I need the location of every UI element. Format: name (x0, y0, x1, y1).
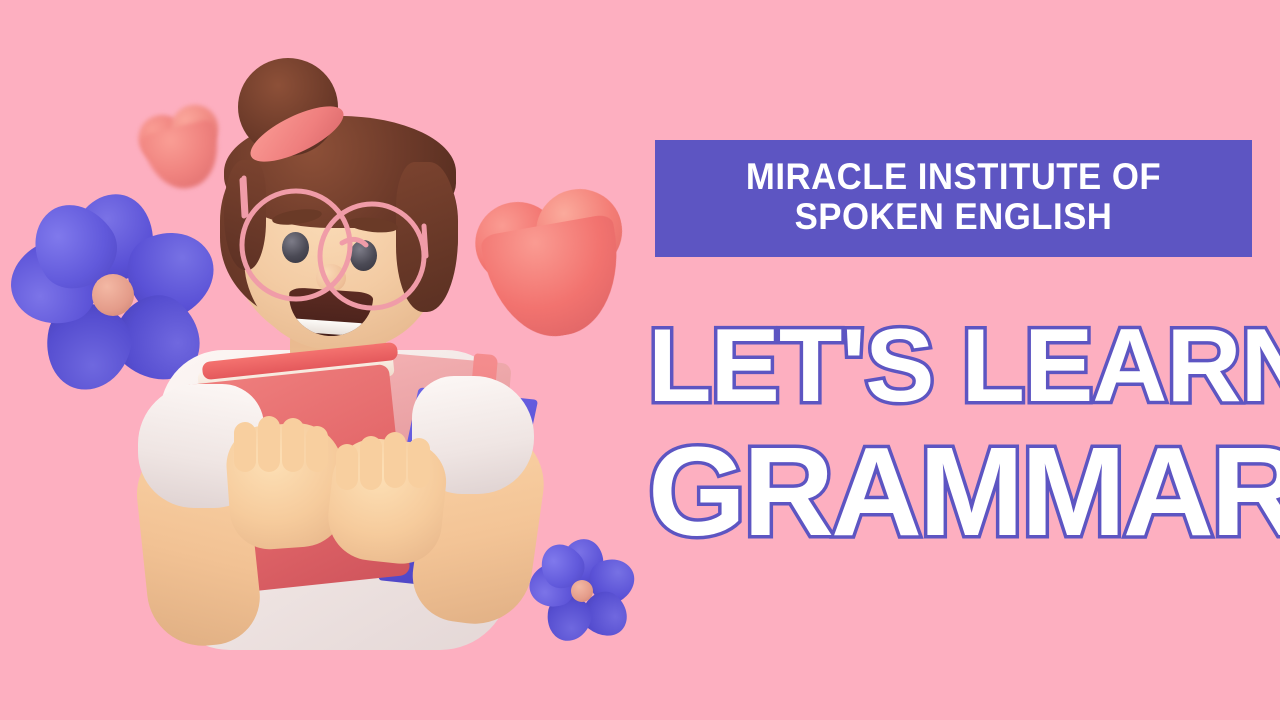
poster-canvas: MIRACLE INSTITUTE OF SPOKEN ENGLISH LET'… (0, 0, 1280, 720)
headline-line-1: LET'S LEARN (648, 316, 1258, 418)
character-hand-right-fingers (334, 432, 440, 484)
character-illustration (120, 40, 590, 660)
headline-block: LET'S LEARN GRAMMAR (648, 316, 1258, 553)
institute-name-text: MIRACLE INSTITUTE OF SPOKEN ENGLISH (682, 157, 1224, 237)
character-hand-left-fingers (232, 416, 338, 468)
institute-name-banner: MIRACLE INSTITUTE OF SPOKEN ENGLISH (655, 140, 1252, 257)
headline-line-2: GRAMMAR (648, 430, 1258, 553)
